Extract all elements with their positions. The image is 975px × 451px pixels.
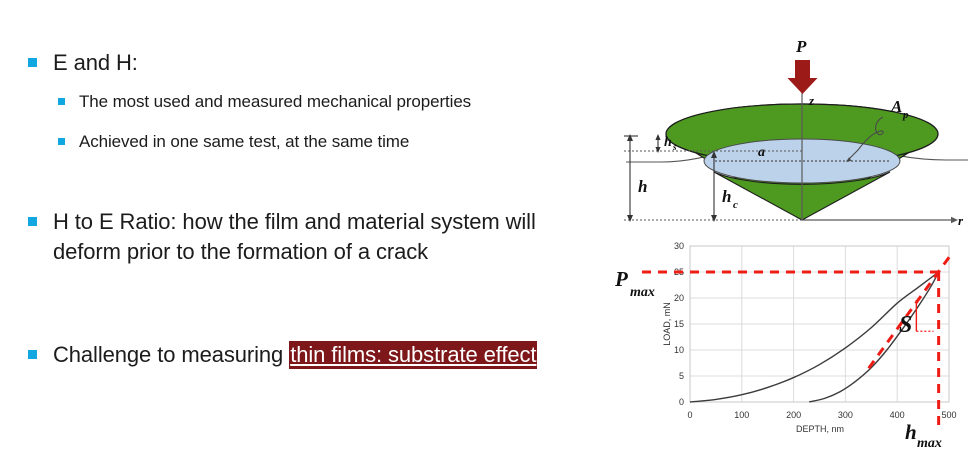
bullet-h-to-e-ratio-label: H to E Ratio: how the film and material … xyxy=(53,207,608,267)
chart-x-tick-label: 500 xyxy=(941,410,956,420)
load-depth-chart: 051015202530 0100200300400500 DEPTH, nm … xyxy=(612,236,975,449)
chart-x-tick-labels: 0100200300400500 xyxy=(687,410,956,420)
hmax-subscript: max xyxy=(917,436,942,451)
total-depth-dimension xyxy=(624,134,638,222)
surface-deflection-subscript: s xyxy=(672,142,677,152)
chart-y-tick-labels: 051015202530 xyxy=(674,241,684,407)
bullet-text-column: E and H: The most used and measured mech… xyxy=(0,0,615,451)
applied-load-arrow-icon xyxy=(788,60,818,94)
bullet-most-used: The most used and measured mechanical pr… xyxy=(58,90,608,114)
bullet-marker-icon xyxy=(28,217,37,226)
r-axis-arrowhead xyxy=(951,217,958,223)
unloading-curve xyxy=(809,272,939,402)
chart-y-tick-label: 0 xyxy=(679,397,684,407)
challenge-highlighted-text: thin films: substrate effect xyxy=(289,341,537,369)
contact-depth-label: h xyxy=(722,187,731,206)
chart-x-tick-label: 400 xyxy=(890,410,905,420)
chart-x-tick-label: 300 xyxy=(838,410,853,420)
sub-bullet-marker-icon xyxy=(58,98,65,105)
indenter-geometry-diagram: P z r A p a h xyxy=(606,22,972,232)
chart-x-axis-title: DEPTH, nm xyxy=(796,424,844,434)
projected-area-subscript: p xyxy=(902,109,909,121)
bullet-challenge-label: Challenge to measuring thin films: subst… xyxy=(53,340,537,370)
bullet-challenge: Challenge to measuring thin films: subst… xyxy=(28,340,608,370)
chart-x-tick-label: 0 xyxy=(687,410,692,420)
hmax-label: h xyxy=(905,420,917,444)
bullet-h-to-e-ratio: H to E Ratio: how the film and material … xyxy=(28,207,608,267)
chart-y-tick-label: 30 xyxy=(674,241,684,251)
bullet-e-and-h: E and H: xyxy=(28,48,598,78)
surface-deflection-label: h xyxy=(664,135,672,150)
chart-x-tick-label: 200 xyxy=(786,410,801,420)
bullet-same-test: Achieved in one same test, at the same t… xyxy=(58,130,608,154)
z-axis-label: z xyxy=(808,93,815,108)
chart-y-tick-label: 20 xyxy=(674,293,684,303)
r-axis-label: r xyxy=(958,213,964,228)
contact-radius-label: a xyxy=(758,145,765,160)
contact-depth-subscript: c xyxy=(733,199,738,211)
projected-area-label: A xyxy=(890,97,902,116)
surface-deflection-dimension xyxy=(655,134,660,153)
challenge-plain-text: Challenge to measuring xyxy=(53,342,289,367)
pmax-subscript: max xyxy=(630,285,655,300)
total-depth-label: h xyxy=(638,177,647,196)
bullet-most-used-label: The most used and measured mechanical pr… xyxy=(79,90,471,114)
chart-y-tick-label: 10 xyxy=(674,345,684,355)
slide-canvas: E and H: The most used and measured mech… xyxy=(0,0,975,451)
chart-y-tick-label: 5 xyxy=(679,371,684,381)
load-symbol-label: P xyxy=(795,37,807,56)
bullet-same-test-label: Achieved in one same test, at the same t… xyxy=(79,130,409,154)
bullet-marker-icon xyxy=(28,350,37,359)
chart-x-tick-label: 100 xyxy=(734,410,749,420)
chart-y-tick-label: 15 xyxy=(674,319,684,329)
chart-y-axis-title: LOAD, mN xyxy=(662,302,672,346)
sub-bullet-marker-icon xyxy=(58,138,65,145)
pmax-label: P xyxy=(614,267,628,291)
bullet-e-and-h-label: E and H: xyxy=(53,48,138,78)
bullet-marker-icon xyxy=(28,58,37,67)
stiffness-label: S xyxy=(899,312,912,338)
